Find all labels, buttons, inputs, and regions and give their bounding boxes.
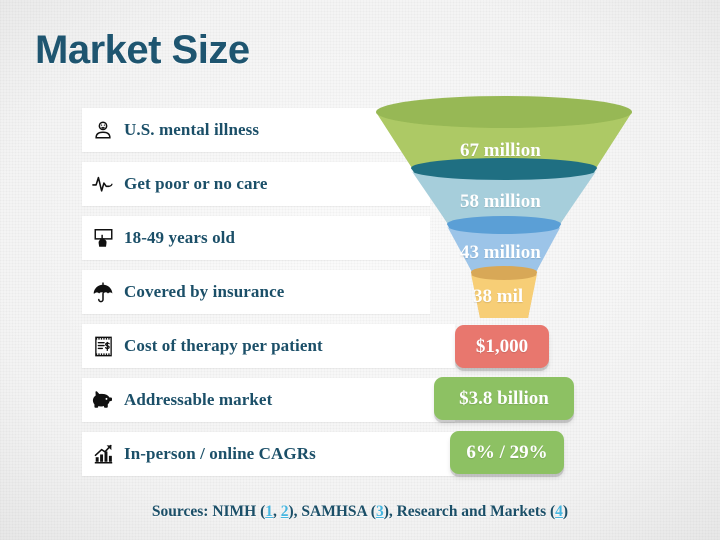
- list-item[interactable]: U.S. mental illness: [82, 108, 430, 152]
- heartbeat-icon: [82, 162, 124, 206]
- list-item-label: Cost of therapy per patient: [124, 336, 323, 356]
- umbrella-icon: [82, 270, 124, 314]
- person-icon: [82, 108, 124, 152]
- sources-text-4: ), SAMHSA (: [289, 503, 376, 520]
- list-item-label: Addressable market: [124, 390, 272, 410]
- sources-line: Sources: NIMH (1, 2), SAMHSA (3), Resear…: [0, 503, 720, 521]
- sources-prefix: Sources:: [152, 503, 212, 520]
- list-item-label: Covered by insurance: [124, 282, 284, 302]
- sources-text-8: ): [563, 503, 568, 520]
- source-link-2[interactable]: 2: [281, 503, 289, 520]
- invoice-icon: [82, 324, 124, 368]
- list-item-label: In-person / online CAGRs: [124, 444, 316, 464]
- page-title: Market Size: [35, 28, 250, 73]
- status-badge-addressable-market: $3.8 billion: [434, 377, 574, 420]
- status-badge-cost-of-therapy: $1,000: [455, 325, 549, 368]
- list-item-label: 18-49 years old: [124, 228, 235, 248]
- cursor-click-icon: [82, 216, 124, 260]
- funnel-stage-2-value: 58 million: [460, 191, 541, 213]
- list-item[interactable]: In-person / online CAGRs: [82, 432, 455, 476]
- sources-text-0: NIMH (: [212, 503, 265, 520]
- list-item[interactable]: 18-49 years old: [82, 216, 430, 260]
- status-badge-cagrs: 6% / 29%: [450, 431, 564, 474]
- source-link-4[interactable]: 4: [555, 503, 563, 520]
- list-item-label: U.S. mental illness: [124, 120, 259, 140]
- funnel-stage-1-value: 67 million: [460, 140, 541, 162]
- source-link-1[interactable]: 1: [265, 503, 273, 520]
- list-item[interactable]: Covered by insurance: [82, 270, 430, 314]
- list-item[interactable]: Cost of therapy per patient: [82, 324, 455, 368]
- funnel-stage-3-value: 43 million: [460, 242, 541, 264]
- piggy-bank-icon: [82, 378, 124, 422]
- source-link-3[interactable]: 3: [376, 503, 384, 520]
- sources-text-6: ), Research and Markets (: [384, 503, 555, 520]
- list-item-label: Get poor or no care: [124, 174, 268, 194]
- list-item[interactable]: Get poor or no care: [82, 162, 430, 206]
- bar-chart-up-icon: [82, 432, 124, 476]
- sources-text-2: ,: [273, 503, 281, 520]
- funnel-stage-4-value: 38 mil: [473, 286, 523, 308]
- list-item[interactable]: Addressable market: [82, 378, 455, 422]
